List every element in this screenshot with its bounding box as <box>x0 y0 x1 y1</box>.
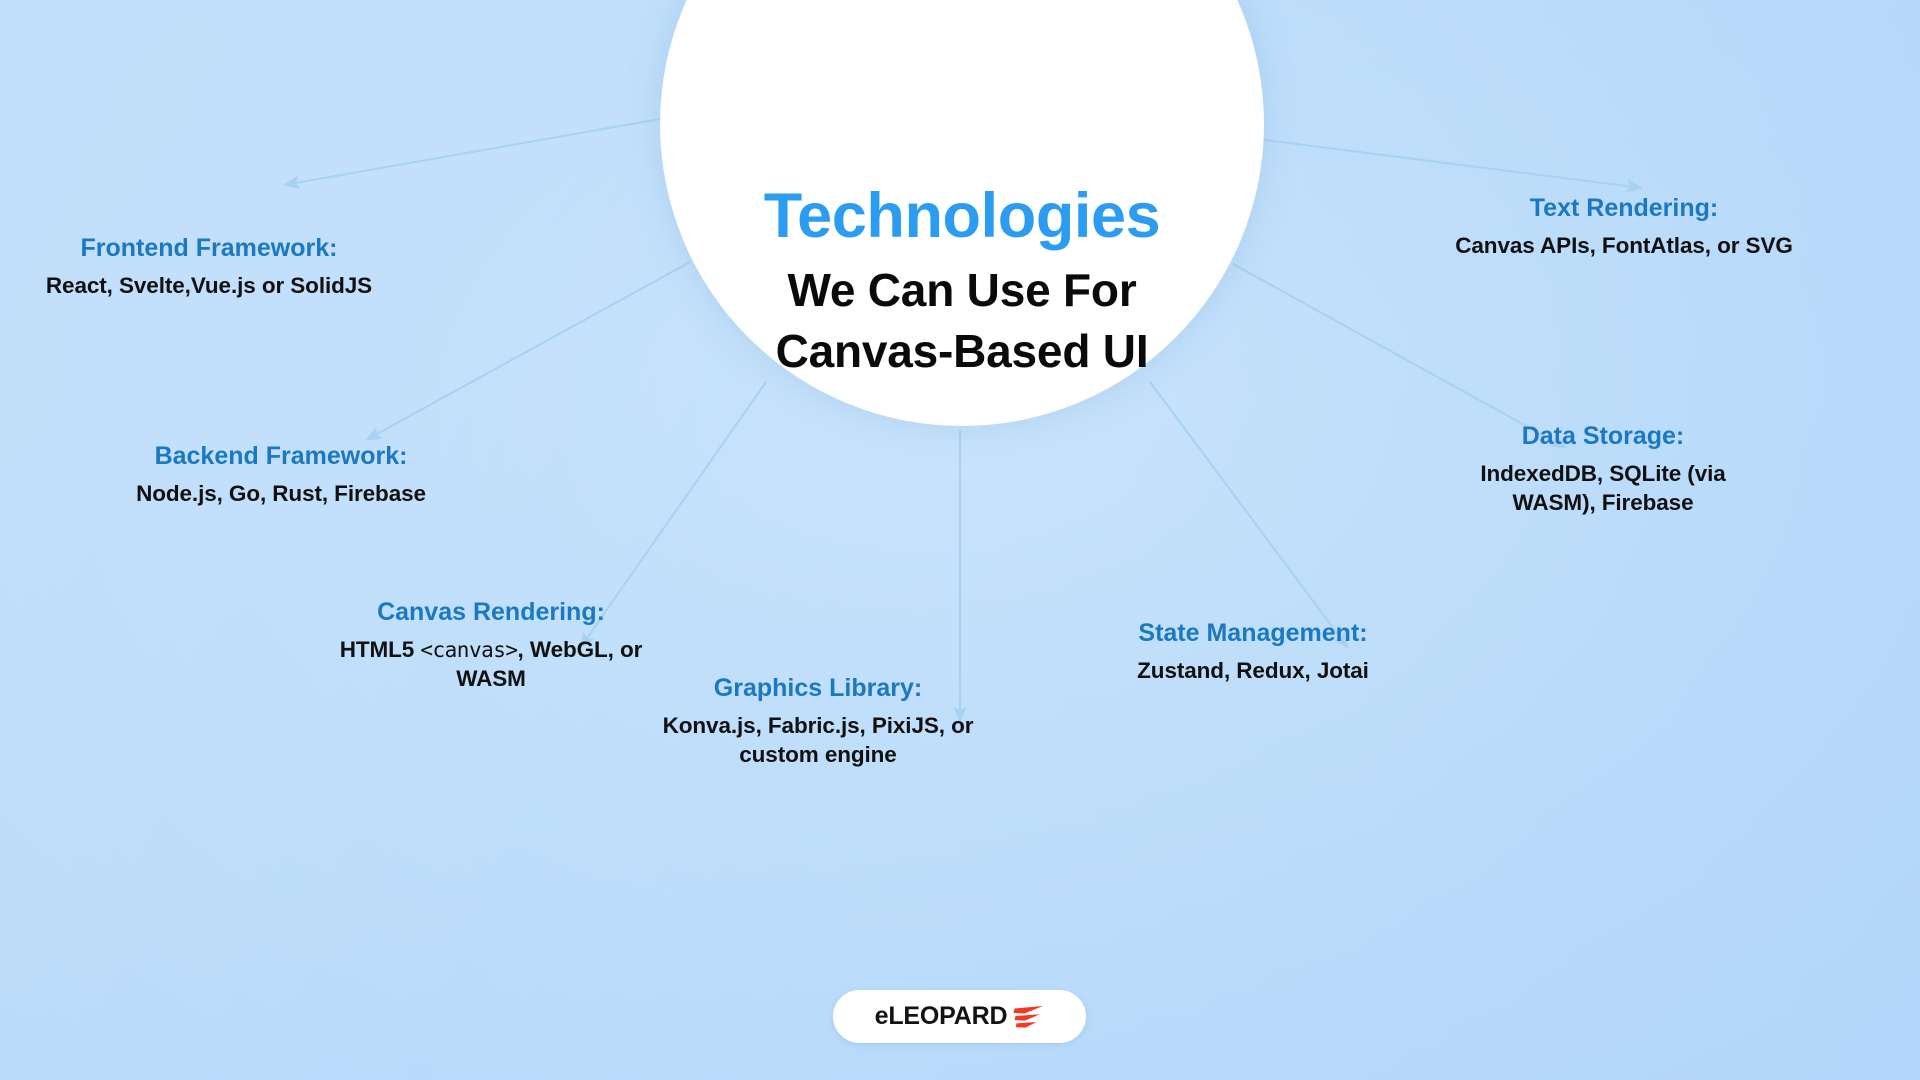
node-body: Node.js, Go, Rust, Firebase <box>110 480 452 509</box>
node-state-management: State Management: Zustand, Redux, Jotai <box>1080 617 1426 686</box>
node-body: Zustand, Redux, Jotai <box>1080 657 1426 686</box>
brand-logo-main: LEOPARD <box>888 1002 1007 1030</box>
arrow-to-frontend <box>284 112 700 185</box>
node-body: Konva.js, Fabric.js, PixiJS, or custom e… <box>648 712 988 770</box>
node-frontend-framework: Frontend Framework: React, Svelte,Vue.js… <box>34 232 384 301</box>
node-title: State Management: <box>1080 617 1426 649</box>
hub-subtitle-line-2: Canvas-Based UI <box>660 321 1264 382</box>
hub-title: Technologies <box>660 185 1264 248</box>
node-body: React, Svelte,Vue.js or SolidJS <box>34 272 384 301</box>
arrow-to-backend <box>366 262 690 440</box>
brand-logo: eLEOPARD <box>833 990 1086 1043</box>
arrow-to-state <box>1150 382 1348 648</box>
brand-logo-prefix: e <box>875 1002 889 1030</box>
node-canvas-rendering: Canvas Rendering: HTML5 <canvas>, WebGL,… <box>330 596 652 694</box>
node-backend-framework: Backend Framework: Node.js, Go, Rust, Fi… <box>110 440 452 509</box>
brand-logo-text: eLEOPARD <box>875 1002 1008 1031</box>
arrow-to-text <box>1218 134 1642 188</box>
central-hub: Technologies We Can Use For Canvas-Based… <box>660 0 1264 426</box>
node-title: Data Storage: <box>1438 420 1768 452</box>
node-text-rendering: Text Rendering: Canvas APIs, FontAtlas, … <box>1448 192 1800 261</box>
node-body-prefix: HTML5 <box>340 637 421 662</box>
node-body: IndexedDB, SQLite (via WASM), Firebase <box>1438 460 1768 518</box>
node-body: Canvas APIs, FontAtlas, or SVG <box>1448 232 1800 261</box>
infographic-canvas: Technologies We Can Use For Canvas-Based… <box>0 0 1920 1080</box>
node-body: HTML5 <canvas>, WebGL, or WASM <box>330 636 652 694</box>
node-data-storage: Data Storage: IndexedDB, SQLite (via WAS… <box>1438 420 1768 518</box>
node-title: Text Rendering: <box>1448 192 1800 224</box>
node-title: Backend Framework: <box>110 440 452 472</box>
node-body-code-tag: <canvas> <box>420 638 517 662</box>
node-title: Frontend Framework: <box>34 232 384 264</box>
node-title: Graphics Library: <box>648 672 988 704</box>
speed-lines-icon <box>1010 1003 1044 1033</box>
hub-subtitle-line-1: We Can Use For <box>660 260 1264 321</box>
node-graphics-library: Graphics Library: Konva.js, Fabric.js, P… <box>648 672 988 770</box>
node-title: Canvas Rendering: <box>330 596 652 628</box>
